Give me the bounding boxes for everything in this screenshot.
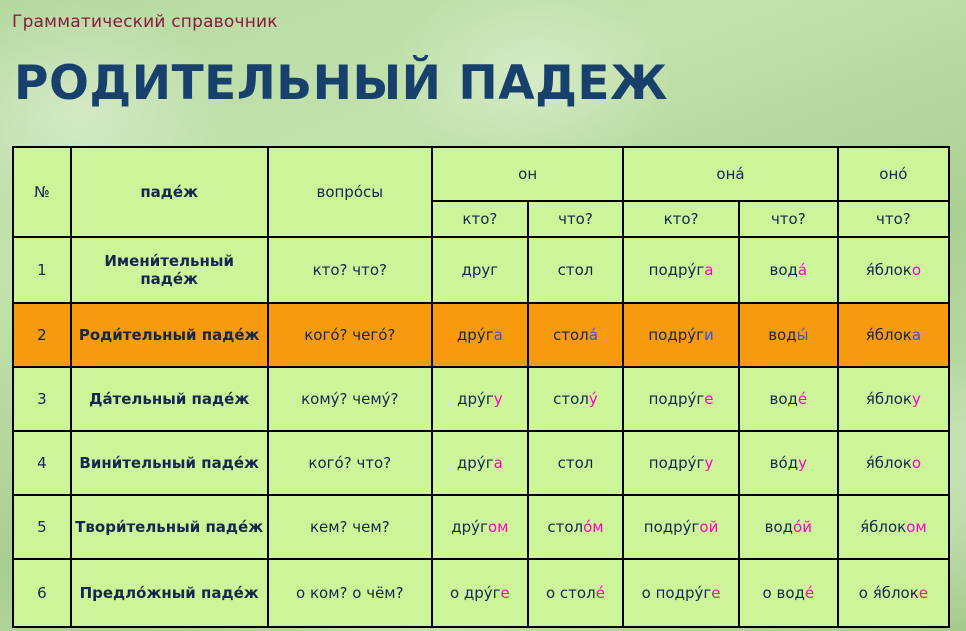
form-neuter: я́блоко (838, 431, 949, 495)
form-fem-inanimate: воды́ (739, 303, 838, 367)
word-stem: я́блок (866, 390, 912, 408)
word-ending: ом (488, 518, 509, 536)
case-name-cell: Предло́жный паде́ж (71, 559, 268, 627)
header-num: № (13, 147, 71, 237)
case-questions-cell: о ком? о чём? (268, 559, 433, 627)
form-fem-animate: подру́га (623, 237, 739, 303)
cases-table: № паде́ж вопро́сы он она́ оно́ кто? что?… (12, 146, 950, 628)
case-name-cell: Роди́тельный паде́ж (71, 303, 268, 367)
header-questions: вопро́сы (268, 147, 433, 237)
form-masc-animate: друг (432, 237, 528, 303)
header-gender-masculine: он (432, 147, 623, 201)
word-stem: я́блок (860, 518, 906, 536)
word-stem: вод (768, 326, 796, 344)
word-stem: я́блок (866, 326, 912, 344)
form-fem-animate: подру́ге (623, 367, 739, 431)
word-ending: ы́ (797, 326, 809, 344)
word-stem: я́блок (866, 261, 912, 279)
word-stem: стол (547, 518, 583, 536)
word-stem: подру́г (644, 518, 700, 536)
form-neuter: я́блоку (838, 367, 949, 431)
case-questions-cell: кто? что? (268, 237, 433, 303)
word-stem: подру́г (648, 326, 704, 344)
word-ending: у (704, 454, 713, 472)
word-stem: подру́г (649, 261, 705, 279)
form-masc-animate: дру́гу (432, 367, 528, 431)
form-fem-animate: подру́ги (623, 303, 739, 367)
word-ending: о́м (583, 518, 604, 536)
case-name-cell: Вини́тельный паде́ж (71, 431, 268, 495)
table-body: № паде́ж вопро́сы он она́ оно́ кто? что?… (13, 147, 949, 627)
form-fem-inanimate: водо́й (739, 495, 838, 559)
header-gender-neuter: оно́ (838, 147, 949, 201)
word-ending: у (798, 454, 807, 472)
form-fem-inanimate: во́ду (739, 431, 838, 495)
row-number: 3 (13, 367, 71, 431)
form-fem-inanimate: о воде́ (739, 559, 838, 627)
word-stem: друг (462, 261, 499, 279)
form-masc-animate: дру́га (432, 431, 528, 495)
word-stem: дру́г (457, 454, 494, 472)
word-ending: е́ (798, 390, 807, 408)
word-ending: е́ (805, 584, 814, 602)
table-row: 1Имени́тельный паде́жкто? что?другстолпо… (13, 237, 949, 303)
word-ending: ом (906, 518, 927, 536)
table-row: 6Предло́жный паде́жо ком? о чём?о дру́ге… (13, 559, 949, 627)
form-neuter: я́блока (838, 303, 949, 367)
word-ending: а (494, 454, 503, 472)
word-stem: дру́г (457, 390, 494, 408)
word-ending: а́ (798, 261, 807, 279)
word-stem: стол (558, 454, 594, 472)
form-neuter: я́блоком (838, 495, 949, 559)
form-fem-animate: подру́гу (623, 431, 739, 495)
word-stem: дру́г (451, 518, 488, 536)
case-questions-cell: кем? чем? (268, 495, 433, 559)
row-number: 6 (13, 559, 71, 627)
form-masc-inanimate: стол (528, 431, 624, 495)
word-stem: вод (765, 518, 793, 536)
table-row: 5Твори́тельный паде́жкем? чем?дру́гомсто… (13, 495, 949, 559)
subheader-f-animate: кто? (623, 201, 739, 237)
word-ending: а (912, 326, 921, 344)
form-masc-inanimate: о столе́ (528, 559, 624, 627)
form-fem-animate: подру́гой (623, 495, 739, 559)
word-ending: а́ (589, 326, 598, 344)
word-stem: вод (770, 261, 798, 279)
word-stem: подру́г (649, 390, 705, 408)
row-number: 2 (13, 303, 71, 367)
word-ending: о (912, 261, 921, 279)
word-stem: стол (553, 390, 589, 408)
word-stem: я́блок (866, 454, 912, 472)
word-stem: о я́блок (859, 584, 919, 602)
word-stem: о дру́г (450, 584, 501, 602)
case-name-cell: Имени́тельный паде́ж (71, 237, 268, 303)
word-ending: е (501, 584, 510, 602)
word-stem: стол (553, 326, 589, 344)
word-ending: е (711, 584, 720, 602)
word-ending: у́ (589, 390, 598, 408)
page-title: РОДИТЕЛЬНЫЙ ПАДЕЖ (14, 60, 668, 107)
word-stem: о вод (763, 584, 805, 602)
table-row: 4Вини́тельный паде́жкого́? что?дру́гасто… (13, 431, 949, 495)
form-masc-inanimate: столо́м (528, 495, 624, 559)
header-gender-feminine: она́ (623, 147, 838, 201)
form-masc-inanimate: столу́ (528, 367, 624, 431)
word-stem: подру́г (649, 454, 705, 472)
form-masc-animate: дру́га (432, 303, 528, 367)
form-neuter: о я́блоке (838, 559, 949, 627)
form-fem-inanimate: воде́ (739, 367, 838, 431)
form-masc-animate: о дру́ге (432, 559, 528, 627)
form-masc-inanimate: стола́ (528, 303, 624, 367)
word-ending: е (919, 584, 928, 602)
header-case: паде́ж (71, 147, 268, 237)
word-ending: а (704, 261, 713, 279)
word-stem: во́д (770, 454, 798, 472)
form-fem-animate: о подру́ге (623, 559, 739, 627)
word-stem: о стол (546, 584, 596, 602)
subheader-m-inanimate: что? (528, 201, 624, 237)
table-row: 3Да́тельный паде́жкому́? чему́?дру́густо… (13, 367, 949, 431)
form-fem-inanimate: вода́ (739, 237, 838, 303)
slide-page: Грамматический справочник РОДИТЕЛЬНЫЙ ПА… (0, 0, 966, 631)
word-stem: стол (558, 261, 594, 279)
word-stem: о подру́г (642, 584, 712, 602)
word-ending: у (494, 390, 503, 408)
form-masc-inanimate: стол (528, 237, 624, 303)
word-ending: о (912, 454, 921, 472)
form-masc-animate: дру́гом (432, 495, 528, 559)
header-row-top: № паде́ж вопро́сы он она́ оно́ (13, 147, 949, 201)
word-ending: ой (699, 518, 718, 536)
case-questions-cell: кого́? чего́? (268, 303, 433, 367)
row-number: 4 (13, 431, 71, 495)
subheader-m-animate: кто? (432, 201, 528, 237)
word-ending: е (704, 390, 713, 408)
word-stem: дру́г (457, 326, 494, 344)
word-ending: а (494, 326, 503, 344)
case-questions-cell: кому́? чему́? (268, 367, 433, 431)
case-name-cell: Твори́тельный паде́ж (71, 495, 268, 559)
case-name-cell: Да́тельный паде́ж (71, 367, 268, 431)
word-stem: вод (770, 390, 798, 408)
word-ending: о́й (793, 518, 812, 536)
subheader-f-inanimate: что? (739, 201, 838, 237)
kicker-text: Грамматический справочник (12, 12, 278, 32)
word-ending: е́ (596, 584, 605, 602)
subheader-n-inanimate: что? (838, 201, 949, 237)
row-number: 5 (13, 495, 71, 559)
case-questions-cell: кого́? что? (268, 431, 433, 495)
row-number: 1 (13, 237, 71, 303)
table-row: 2Роди́тельный паде́жкого́? чего́?дру́гас… (13, 303, 949, 367)
form-neuter: я́блоко (838, 237, 949, 303)
word-ending: у (912, 390, 921, 408)
word-ending: и (704, 326, 714, 344)
